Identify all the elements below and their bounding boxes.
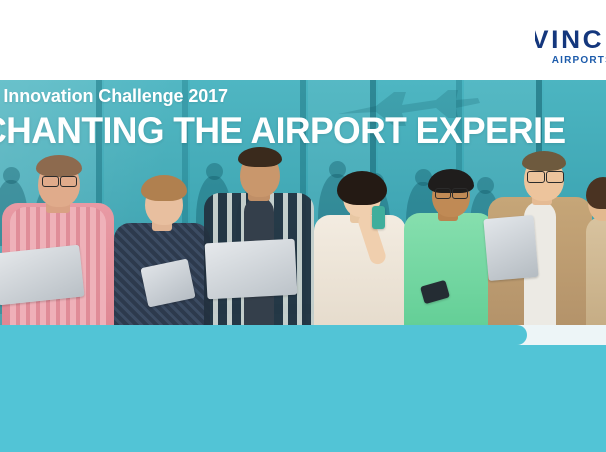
person-3 — [204, 155, 314, 325]
person-1 — [2, 165, 114, 325]
banner-headline: NCHANTING THE AIRPORT EXPERIE — [0, 110, 566, 152]
laptop-icon — [205, 239, 298, 300]
page-header: VINCI AIRPORTS — [0, 0, 606, 80]
person-7 — [586, 175, 606, 325]
smartphone-icon — [372, 206, 385, 229]
person-4 — [314, 173, 406, 325]
vinci-airports-logo[interactable]: VINCI AIRPORTS — [535, 28, 606, 66]
progress-bar-track[interactable] — [0, 325, 606, 345]
progress-bar-fill — [0, 325, 527, 345]
logo-subtitle: AIRPORTS — [535, 56, 606, 66]
people-photo-group — [0, 150, 606, 325]
person-6 — [488, 153, 592, 325]
hero-banner: ports Innovation Challenge 2017 NCHANTIN… — [0, 80, 606, 325]
logo-wordmark: VINCI — [535, 28, 606, 53]
bottom-teal-panel — [0, 345, 606, 452]
person-5 — [404, 169, 494, 325]
tablet-icon — [483, 215, 538, 281]
laptop-icon — [0, 245, 84, 306]
banner-subtitle: ports Innovation Challenge 2017 — [0, 86, 228, 107]
person-2 — [114, 183, 210, 325]
